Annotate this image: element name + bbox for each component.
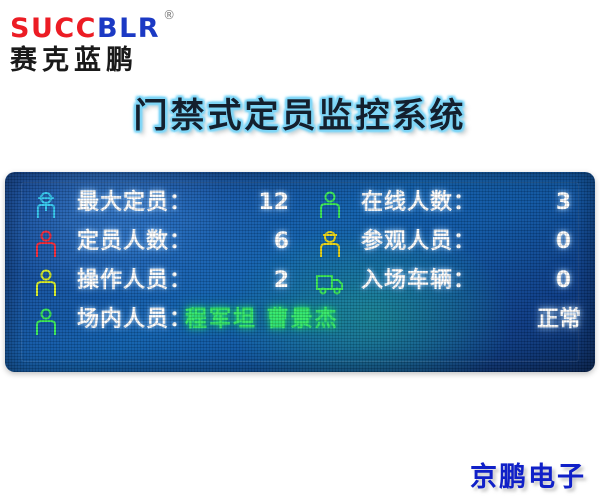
row-operator-count: 操作人员： 2	[31, 265, 303, 303]
truck-icon	[315, 268, 345, 298]
logo-text-blr: BLR	[97, 13, 160, 44]
page-root: SUCCBLR® 赛克蓝鹏 门禁式定员监控系统 最	[0, 0, 600, 500]
person-icon	[315, 190, 345, 220]
value-online-count: 3	[556, 187, 571, 219]
person-icon	[31, 268, 61, 298]
company-logo: SUCCBLR® 赛克蓝鹏	[10, 8, 230, 74]
page-title: 门禁式定员监控系统	[0, 88, 600, 137]
person-icon	[31, 229, 61, 259]
row-registered-count: 定员人数： 6	[31, 226, 303, 264]
value-operator-count: 2	[274, 265, 289, 297]
label-visitor-count: 参观人员：	[361, 226, 476, 258]
status-badge: 正常	[537, 304, 581, 336]
label-max-capacity: 最大定员：	[77, 187, 192, 219]
value-vehicle-count: 0	[556, 265, 571, 297]
person-icon	[31, 307, 61, 337]
label-online-count: 在线人数：	[361, 187, 476, 219]
value-registered-count: 6	[274, 226, 289, 258]
logo-chinese-text: 赛克蓝鹏	[10, 45, 230, 77]
label-registered-count: 定员人数：	[77, 226, 192, 258]
label-operator-count: 操作人员：	[77, 265, 192, 297]
logo-latin-text: SUCCBLR®	[10, 8, 230, 44]
row-visitor-count: 参观人员： 0	[315, 226, 585, 264]
row-max-capacity: 最大定员： 12	[31, 187, 303, 225]
person-visitor-icon	[315, 229, 345, 259]
led-display-panel: 最大定员： 12 定员人数： 6	[5, 172, 595, 372]
row-online-count: 在线人数： 3	[315, 187, 585, 225]
label-onsite-personnel: 场内人员：	[77, 304, 192, 336]
value-max-capacity: 12	[258, 187, 289, 219]
person-helmet-icon	[31, 190, 61, 220]
label-vehicle-count: 入场车辆：	[361, 265, 476, 297]
panel-content-grid: 最大定员： 12 定员人数： 6	[5, 172, 595, 372]
onsite-personnel-names: 程军坦 曹景杰	[185, 304, 339, 336]
value-visitor-count: 0	[556, 226, 571, 258]
footer-company-name: 京鹏电子	[470, 455, 586, 494]
logo-text-succ: SUCC	[10, 13, 97, 44]
registered-trademark-icon: ®	[163, 0, 177, 30]
row-vehicle-count: 入场车辆： 0	[315, 265, 585, 303]
